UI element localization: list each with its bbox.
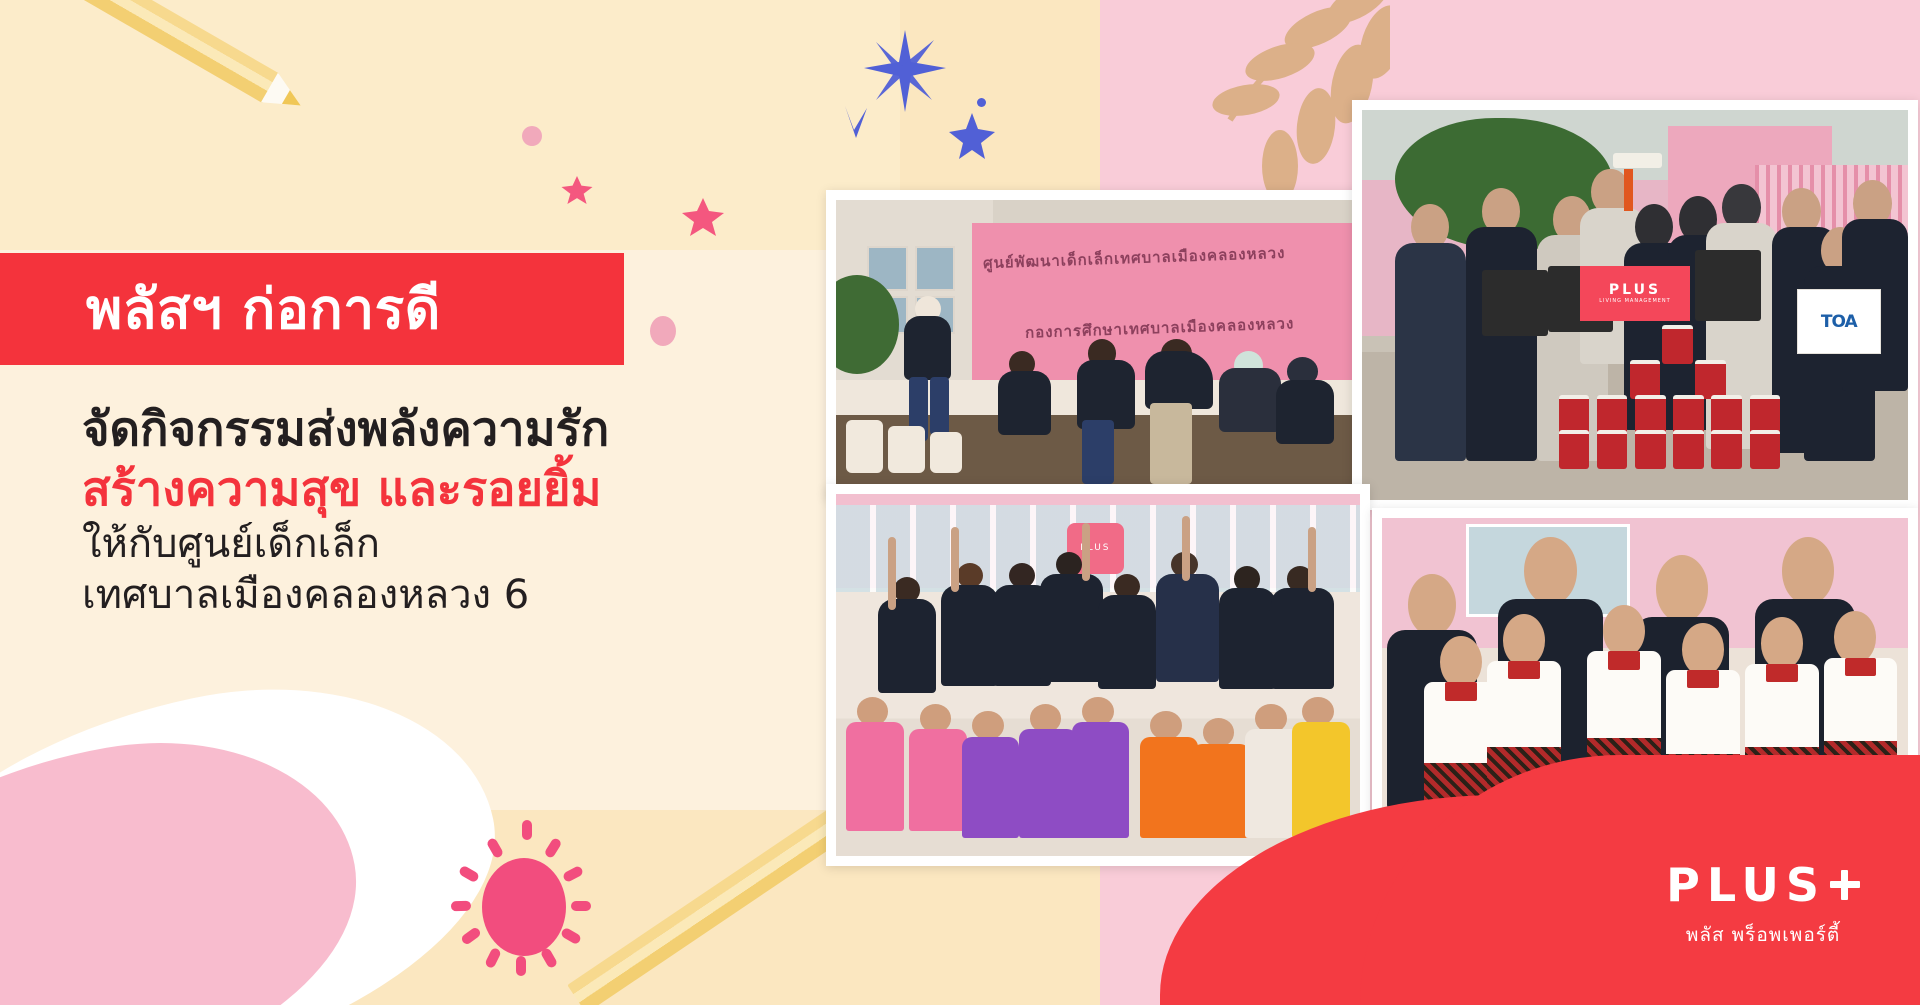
pink-dot-icon: [650, 316, 676, 346]
photo-group-donation: PLUS LIVING MANAGEMENT TOA: [1352, 100, 1918, 510]
plus-sign-brand: PLUS: [1609, 282, 1661, 298]
plus-living-management-sign: PLUS LIVING MANAGEMENT: [1580, 266, 1689, 321]
pink-star-icon-1: [680, 196, 726, 242]
headline-line-4: เทศบาลเมืองคลองหลวง 6: [82, 570, 802, 621]
background-cream-top: [0, 0, 900, 260]
tan-leaf-icon: [1120, 0, 1390, 220]
headline-line-3: ให้กับศูนย์เด็กเล็ก: [82, 519, 802, 570]
blue-star-icon-2: [948, 112, 996, 164]
photo-kids-cheering: PLUS: [826, 484, 1370, 866]
poster-canvas: ศูนย์พัฒนาเด็กเล็กเทศบาลเมืองคลองหลวง กอ…: [0, 0, 1920, 1005]
headline-copy: จัดกิจกรรมส่งพลังความรัก สร้างความสุข แล…: [82, 400, 802, 621]
plus-sign-icon: [1830, 870, 1860, 900]
plus-property-logo: PLUS พลัส พร็อพเพอร์ตี้: [1666, 862, 1860, 950]
pink-star-icon-2: [560, 174, 594, 210]
blue-check-icon: [842, 104, 870, 142]
toa-logo-text: TOA: [1821, 312, 1857, 332]
banner-title: พลัสฯ ก่อการดี: [86, 282, 441, 337]
blue-star-icon-1: [862, 28, 948, 118]
photo-wall-painting: ศูนย์พัฒนาเด็กเล็กเทศบาลเมืองคลองหลวง กอ…: [826, 190, 1370, 500]
blue-dot-icon: [977, 98, 986, 107]
logo-wordmark: PLUS: [1666, 862, 1826, 908]
sun-burst-icon: [452, 830, 602, 980]
plus-sign-subtitle: LIVING MANAGEMENT: [1599, 298, 1670, 304]
pink-dot-icon-2: [522, 126, 542, 146]
headline-line-1: จัดกิจกรรมส่งพลังความรัก: [82, 400, 802, 460]
logo-subtitle: พลัส พร็อพเพอร์ตี้: [1666, 920, 1860, 950]
headline-banner: พลัสฯ ก่อการดี: [0, 253, 624, 365]
toa-logo-sign: TOA: [1797, 289, 1881, 353]
headline-line-2: สร้างความสุข และรอยยิ้ม: [82, 460, 802, 520]
